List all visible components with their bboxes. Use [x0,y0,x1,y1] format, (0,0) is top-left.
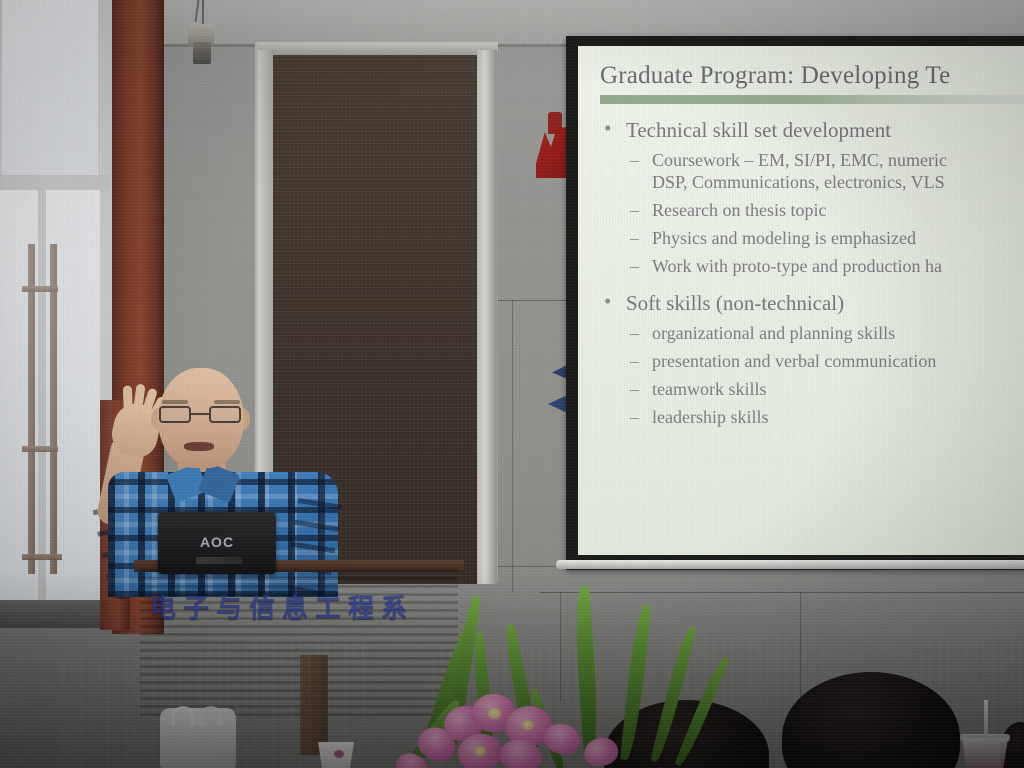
window-bar [22,446,58,452]
speaker-mouth [184,442,214,451]
orchid-plant [388,588,718,768]
glasses-lens [209,406,241,423]
wall-panel-rail [258,42,498,56]
orchid-center [474,746,486,756]
glasses-lens [159,406,191,423]
presentation-slide: Graduate Program: Developing Te Technica… [600,62,1024,542]
window-bar [22,286,58,292]
window-mullion-horizontal [0,175,110,191]
finger [123,385,133,411]
speaker-eyebrow [162,400,188,404]
slide-subbullet: organizational and planning skills [600,323,1024,344]
wall-panel-edge-right [477,50,497,584]
slide-subbullet: Research on thesis topic [600,200,1024,221]
lecture-room-photo: Graduate Program: Developing Te Technica… [0,0,1024,768]
slide-subbullet: Coursework – EM, SI/PI, EMC, numeric [600,150,1024,171]
speaker-eyebrow [214,400,240,404]
orchid-center [522,720,534,730]
wall-seam [512,300,513,592]
slide-subbullet: leadership skills [600,407,1024,428]
monitor-buttons[interactable] [196,557,242,564]
slide-subbullet: Physics and modeling is emphasized [600,228,1024,249]
window-bar [28,244,35,574]
projection-screen-weight-bar [556,560,1024,569]
slide-title: Graduate Program: Developing Te [600,62,1024,90]
camera-lens-icon [193,42,211,64]
monitor-brand-logo: AOC [158,534,276,550]
slide-subbullet: teamwork skills [600,379,1024,400]
slide-bullet-2: Soft skills (non-technical) [600,291,1024,316]
window-bar [50,244,57,574]
window-bar [22,554,62,560]
slide-bullet-1: Technical skill set development [600,118,1024,143]
glasses-icon [159,406,243,423]
plastic-bag-handle [172,706,194,726]
window-mullion-vertical [38,190,46,600]
drink-cup[interactable] [962,738,1008,768]
slide-subbullet: Work with proto-type and production ha [600,256,1024,277]
slide-subbullet: presentation and verbal communication [600,351,1024,372]
slide-accent-bar [600,95,1024,104]
orchid-center [488,708,501,719]
plant-leaf [620,604,651,761]
glasses-bridge [191,413,209,415]
slide-subbullet-continuation: DSP, Communications, electronics, VLS [600,172,1024,193]
computer-monitor[interactable]: AOC [158,512,276,574]
paper-cup-logo [334,750,344,758]
plastic-bag-handle [200,706,222,726]
camera-cable [202,0,204,26]
window-pane-upper [2,0,98,175]
